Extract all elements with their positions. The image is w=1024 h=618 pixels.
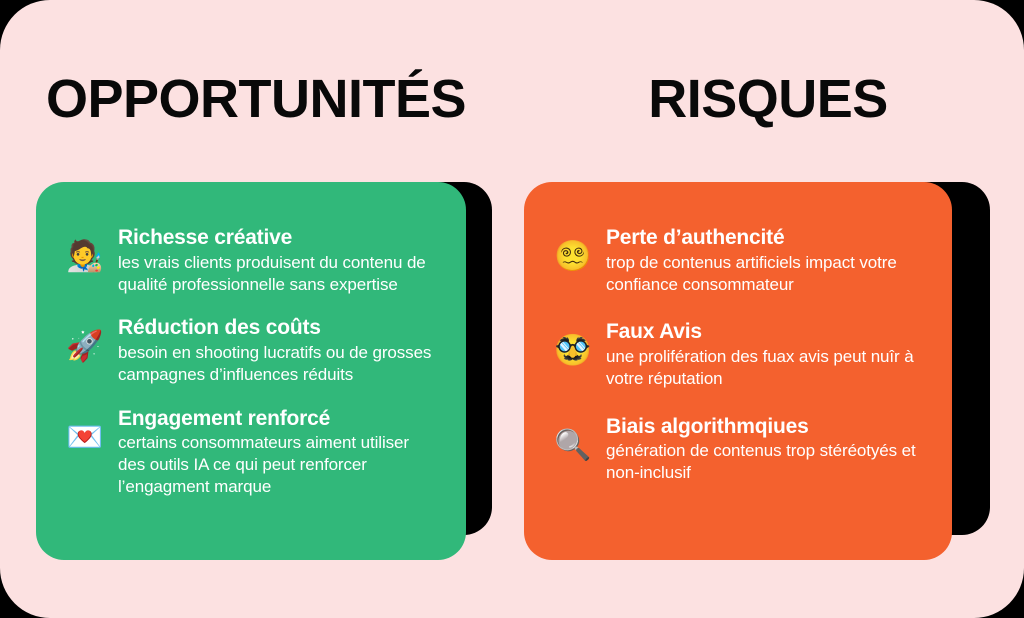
list-item-text: Réduction des coûts besoin en shooting l… (108, 316, 440, 385)
list-item: 🧑‍🎨 Richesse créative les vrais clients … (62, 226, 440, 295)
list-item-title: Engagement renforcé (118, 407, 440, 432)
heading-col-opportunites: OPPORTUNITÉS (0, 0, 512, 170)
face-with-spiral-eyes-emoji: 😵‍💫 (550, 226, 596, 272)
list-item: 😵‍💫 Perte d’authencité trop de contenus … (550, 226, 926, 295)
list-item: 🚀 Réduction des coûts besoin en shooting… (62, 316, 440, 385)
list-item-description: besoin en shooting lucratifs ou de gross… (118, 342, 440, 386)
list-item: 🔍 Biais algorithmqiues génération de con… (550, 415, 926, 484)
slide-root: OPPORTUNITÉS RISQUES 🧑‍🎨 Richesse créati… (0, 0, 1024, 618)
list-item-title: Biais algorithmqiues (606, 415, 926, 440)
list-item-text: Biais algorithmqiues génération de conte… (596, 415, 926, 484)
card-risques: 😵‍💫 Perte d’authencité trop de contenus … (524, 182, 952, 560)
artist-emoji: 🧑‍🎨 (62, 226, 108, 272)
list-item-description: une prolifération des fuax avis peut nuî… (606, 346, 926, 390)
heading-col-risques: RISQUES (512, 0, 1024, 170)
list-item-title: Faux Avis (606, 320, 926, 345)
list-item-title: Réduction des coûts (118, 316, 440, 341)
list-item-text: Perte d’authencité trop de contenus arti… (596, 226, 926, 295)
list-item-description: trop de contenus artificiels impact votr… (606, 252, 926, 296)
magnifying-glass-emoji: 🔍 (550, 415, 596, 461)
list-item-description: certains consommateurs aiment utiliser d… (118, 432, 440, 497)
headings-row: OPPORTUNITÉS RISQUES (0, 0, 1024, 170)
list-item-description: génération de contenus trop stéréotyés e… (606, 440, 926, 484)
page-title-risques: RISQUES (648, 44, 888, 126)
list-item-title: Perte d’authencité (606, 226, 926, 251)
love-letter-emoji: 💌 (62, 407, 108, 453)
card-opportunites: 🧑‍🎨 Richesse créative les vrais clients … (36, 182, 466, 560)
list-item-title: Richesse créative (118, 226, 440, 251)
list-item: 💌 Engagement renforcé certains consommat… (62, 407, 440, 498)
list-item: 🥸 Faux Avis une prolifération des fuax a… (550, 320, 926, 389)
page-title-opportunites: OPPORTUNITÉS (46, 44, 466, 126)
list-item-description: les vrais clients produisent du contenu … (118, 252, 440, 296)
list-item-text: Engagement renforcé certains consommateu… (108, 407, 440, 498)
disguised-face-emoji: 🥸 (550, 320, 596, 366)
list-item-text: Richesse créative les vrais clients prod… (108, 226, 440, 295)
rocket-emoji: 🚀 (62, 316, 108, 362)
list-item-text: Faux Avis une prolifération des fuax avi… (596, 320, 926, 389)
